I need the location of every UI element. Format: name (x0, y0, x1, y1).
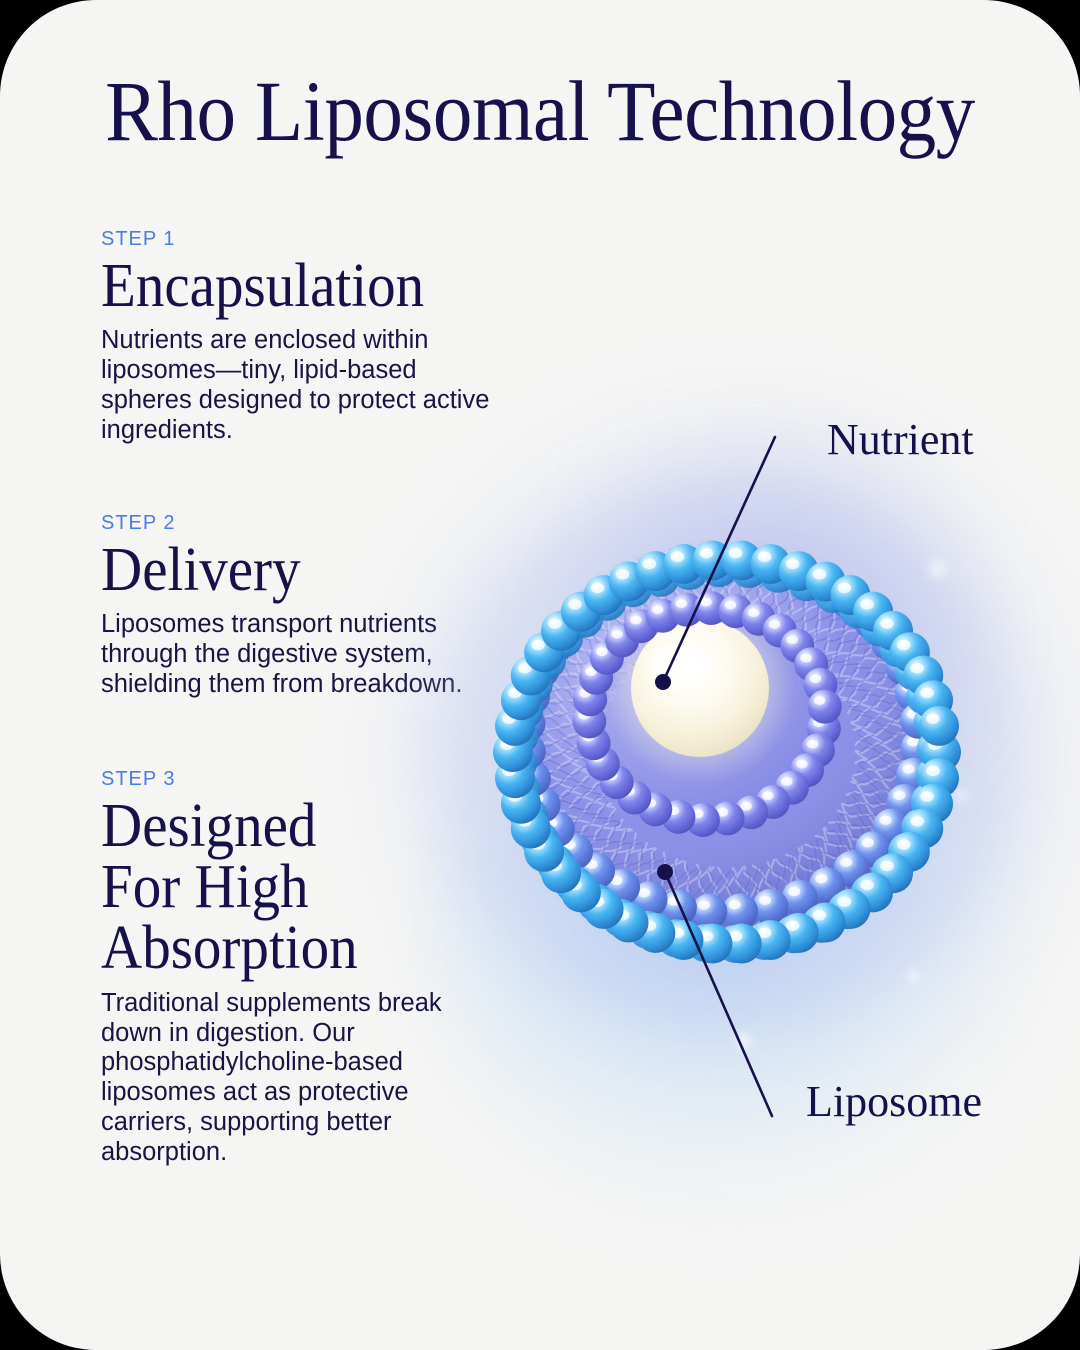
head-highlight (893, 791, 905, 800)
head-highlight (840, 858, 852, 867)
head-highlight (926, 766, 940, 776)
head-highlight (838, 583, 852, 593)
head-highlight (758, 552, 772, 562)
callout-label-nutrient: Nutrient (827, 418, 974, 462)
phospholipid-head (808, 690, 842, 724)
head-highlight (652, 605, 664, 614)
head-highlight (548, 618, 562, 628)
head-highlight (786, 921, 800, 931)
infographic-card: Rho Liposomal Technology STEP 1 Encapsul… (0, 0, 1080, 1350)
phospholipid-head (919, 706, 959, 746)
head-highlight (879, 815, 891, 824)
head-highlight (725, 601, 737, 610)
head-highlight (880, 861, 894, 871)
head-highlight (759, 896, 771, 905)
head-highlight (796, 760, 808, 769)
head-highlight (638, 888, 650, 897)
head-highlight (568, 599, 582, 609)
head-highlight (910, 816, 924, 826)
head-highlight (729, 548, 743, 558)
head-highlight (531, 640, 545, 650)
head-highlight (671, 552, 685, 562)
head-highlight (788, 887, 800, 896)
head-highlight (910, 663, 924, 673)
head-highlight (860, 599, 874, 609)
head-highlight (897, 640, 911, 650)
head-highlight (880, 618, 894, 628)
head-highlight (591, 583, 605, 593)
head-highlight (813, 569, 827, 579)
head-highlight (926, 713, 940, 723)
head-highlight (616, 569, 630, 579)
head-highlight (596, 647, 608, 656)
head-highlight (815, 874, 827, 883)
head-highlight (643, 559, 657, 569)
head-highlight (814, 696, 826, 705)
head-highlight (838, 896, 852, 906)
head-highlight (800, 654, 812, 663)
head-highlight (762, 791, 774, 800)
head-highlight (786, 559, 800, 569)
head-highlight (920, 791, 934, 801)
head-highlight (611, 630, 623, 639)
head-highlight (740, 802, 752, 811)
head-highlight (630, 616, 642, 625)
callout-label-liposome: Liposome (806, 1080, 982, 1124)
head-highlight (769, 620, 781, 629)
head-highlight (860, 880, 874, 890)
head-highlight (698, 900, 710, 909)
head-highlight (676, 599, 688, 608)
head-highlight (748, 608, 760, 617)
head-highlight (729, 900, 741, 909)
head-highlight (787, 635, 799, 644)
head-highlight (813, 910, 827, 920)
liposome-illustration (0, 0, 1080, 1350)
head-highlight (897, 839, 911, 849)
head-highlight (902, 764, 914, 773)
head-highlight (920, 688, 934, 698)
head-highlight (862, 838, 874, 847)
head-highlight (700, 548, 714, 558)
head-highlight (781, 777, 793, 786)
head-highlight (807, 740, 819, 749)
head-highlight (810, 674, 822, 683)
